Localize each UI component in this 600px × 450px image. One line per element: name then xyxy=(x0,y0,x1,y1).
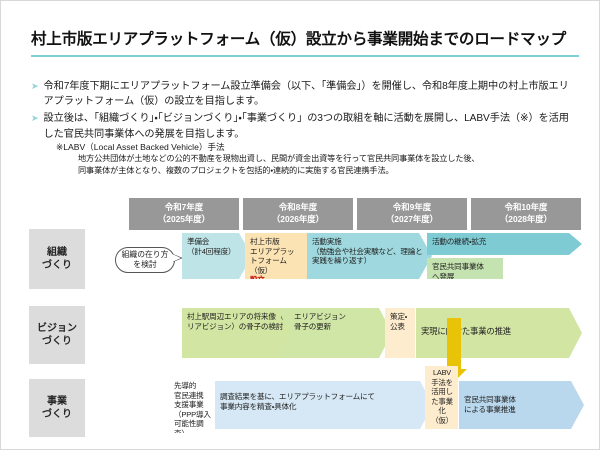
org-activity: 活動実施 （勉強会や社会実験など、理論と実践を繰り返す） xyxy=(307,233,432,279)
bullet-text: 令和7年度下期にエリアプラットフォーム設立準備会（以下、「準備会」）を開催し、令… xyxy=(44,79,576,109)
title-underline xyxy=(31,55,579,57)
org-prep-committee-label: 準備会 （計4回程度） xyxy=(187,237,235,256)
year-header-cell: 令和8年度 （2026年度） xyxy=(243,198,353,230)
footnote-line-2: 同事業体が主体となり、複数のプロジェクトを包括的・連続的に実施する官民連携手法。 xyxy=(78,165,581,177)
vision-update: エリアビジョン 骨子の更新 xyxy=(277,308,392,358)
labv-footnote: ※LABV（Local Asset Backed Vehicle）手法 地方公共… xyxy=(56,141,581,177)
year-western: （2028年度） xyxy=(471,214,581,226)
year-era: 令和7年度 xyxy=(129,202,239,214)
page-title: 村上市版エリアプラットフォーム（仮）設立から事業開始までのロードマップ xyxy=(31,27,579,49)
org-activity-label: 活動実施 （勉強会や社会実験など、理論と実践を繰り返す） xyxy=(312,237,423,265)
row-organization: 組織 づくり 組織の在り方を検討 準備会 （計4回程度） 村上市版 エリアプラッ… xyxy=(29,229,581,297)
bullet-text: 設立後は、「組織づくり」・「ビジョンづくり」・「事業づくり」の3つの取組を軸に活… xyxy=(44,111,576,141)
business-track: 先導的 官民連携 支援事業 （PPP導入 可能性調査） 調査結果を基に、エリアプ… xyxy=(127,379,581,441)
vision-track: 村上駅周辺エリアの将来像（エリアビジョン）の骨子の検討 エリアビジョン 骨子の更… xyxy=(127,306,581,368)
year-western: （2027年度） xyxy=(357,214,467,226)
vision-draft: 村上駅周辺エリアの将来像（エリアビジョン）の骨子の検討 xyxy=(182,308,297,358)
vision-update-label: エリアビジョン 骨子の更新 xyxy=(282,312,388,331)
vision-publish-label: 策定・ 公表 xyxy=(390,312,407,331)
business-joint-promote: 官民共同事業体 による事業推進 xyxy=(459,381,584,429)
footnote-line-1: 地方公共団体が土地などの公的不動産を現物出資し、民間が資金出資等を行って官民共同… xyxy=(78,153,581,165)
org-develop-joint-entity-label: 官民共同事業体 へ発展 xyxy=(432,262,484,279)
row-vision: ビジョン づくり 村上駅周辺エリアの将来像（エリアビジョン）の骨子の検討 エリア… xyxy=(29,306,581,368)
org-continue-expand: 活動の継続・拡充 xyxy=(427,233,582,255)
org-consider-bubble: 組織の在り方を検討 xyxy=(115,247,175,273)
year-header-cell: 令和7年度 （2025年度） xyxy=(129,198,239,230)
business-concretize: 調査結果を基に、エリアプラットフォームにて 事業内容を精査・具体化 xyxy=(215,381,433,429)
year-header-cell: 令和9年度 （2027年度） xyxy=(357,198,467,230)
year-era: 令和9年度 xyxy=(357,202,467,214)
row-business: 事業 づくり 先導的 官民連携 支援事業 （PPP導入 可能性調査） 調査結果を… xyxy=(29,379,581,441)
row-label-business: 事業 づくり xyxy=(29,379,85,437)
summary-bullets: ➤ 令和7年度下期にエリアプラットフォーム設立準備会（以下、「準備会」）を開催し… xyxy=(31,79,576,144)
row-label-organization: 組織 づくり xyxy=(29,229,85,289)
org-continue-expand-label: 活動の継続・拡充 xyxy=(432,237,486,246)
year-western: （2026年度） xyxy=(243,214,353,226)
bullet-item: ➤ 設立後は、「組織づくり」・「ビジョンづくり」・「事業づくり」の3つの取組を軸… xyxy=(31,111,576,141)
org-establishment-line1: 村上市版 xyxy=(250,237,303,247)
arrow-stem xyxy=(447,318,461,370)
title-block: 村上市版エリアプラットフォーム（仮）設立から事業開始までのロードマップ xyxy=(31,27,579,57)
business-ppp-survey: 先導的 官民連携 支援事業 （PPP導入 可能性調査） xyxy=(169,377,217,433)
org-establishment-line2: エリアプラッ xyxy=(250,247,303,257)
org-establishment-line3: トフォーム（仮） xyxy=(250,256,303,275)
business-concretize-label: 調査結果を基に、エリアプラットフォームにて 事業内容を精査・具体化 xyxy=(220,392,375,411)
business-labv-label: LABV手法を活用した事業化（仮） xyxy=(431,368,453,425)
footnote-heading: ※LABV（Local Asset Backed Vehicle）手法 xyxy=(56,141,581,153)
labv-down-arrow-icon xyxy=(441,318,467,370)
year-western: （2025年度） xyxy=(129,214,239,226)
org-establishment-emphasis: 設立 xyxy=(250,275,303,279)
vision-draft-label: 村上駅周辺エリアの将来像（エリアビジョン）の骨子の検討 xyxy=(187,312,291,331)
org-prep-committee: 準備会 （計4回程度） xyxy=(182,233,252,279)
year-header-cell: 令和10年度 （2028年度） xyxy=(471,198,581,230)
organization-track: 組織の在り方を検討 準備会 （計4回程度） 村上市版 エリアプラッ トフォーム（… xyxy=(127,229,581,297)
bullet-marker-icon: ➤ xyxy=(31,79,39,94)
bullet-item: ➤ 令和7年度下期にエリアプラットフォーム設立準備会（以下、「準備会」）を開催し… xyxy=(31,79,576,109)
business-joint-promote-label: 官民共同事業体 による事業推進 xyxy=(464,395,516,414)
year-era: 令和8年度 xyxy=(243,202,353,214)
business-ppp-survey-label: 先導的 官民連携 支援事業 （PPP導入 可能性調査） xyxy=(174,381,211,433)
bullet-marker-icon: ➤ xyxy=(31,111,39,126)
org-develop-joint-entity: 官民共同事業体 へ発展 xyxy=(427,258,503,279)
vision-publish: 策定・ 公表 xyxy=(385,308,415,358)
year-era: 令和10年度 xyxy=(471,202,581,214)
row-label-vision: ビジョン づくり xyxy=(29,306,85,364)
business-labv-box: LABV手法を活用した事業化（仮） xyxy=(425,366,458,429)
org-establishment: 村上市版 エリアプラッ トフォーム（仮） 設立 xyxy=(245,233,307,279)
year-header-row: 令和7年度 （2025年度） 令和8年度 （2026年度） 令和9年度 （202… xyxy=(129,198,581,230)
roadmap-slide: 村上市版エリアプラットフォーム（仮）設立から事業開始までのロードマップ ➤ 令和… xyxy=(0,0,600,450)
